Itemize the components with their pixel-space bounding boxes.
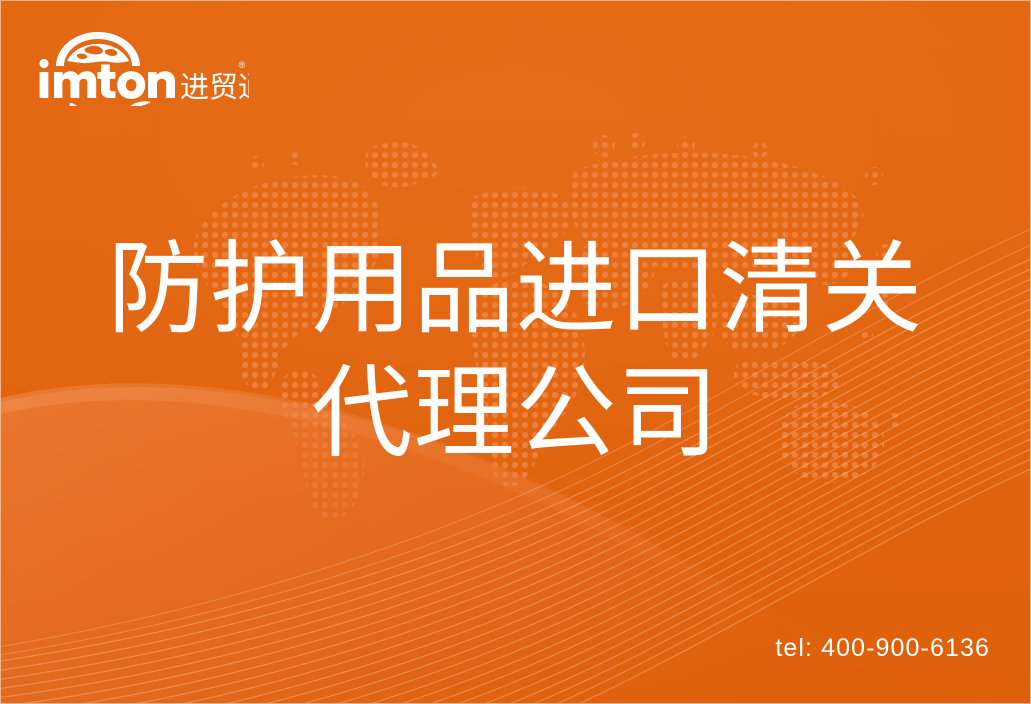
page-title: 防护用品进口清关 代理公司 [0, 228, 1031, 476]
contact-phone[interactable]: tel: 400-900-6136 [775, 634, 990, 662]
headline-line-1: 防护用品进口清关 [0, 228, 1031, 352]
promo-banner: 进贸通 ® 防护用品进口清关 代理公司 tel: 400-900-6136 [0, 0, 1031, 704]
swoosh-arc-icon [68, 101, 152, 106]
headline-line-2: 代理公司 [0, 352, 1031, 476]
globe-arc-icon [56, 32, 140, 67]
trademark-icon: ® [239, 60, 246, 70]
logo-chinese-name: 进贸通 [180, 70, 249, 104]
company-logo[interactable]: 进贸通 ® [34, 28, 249, 106]
